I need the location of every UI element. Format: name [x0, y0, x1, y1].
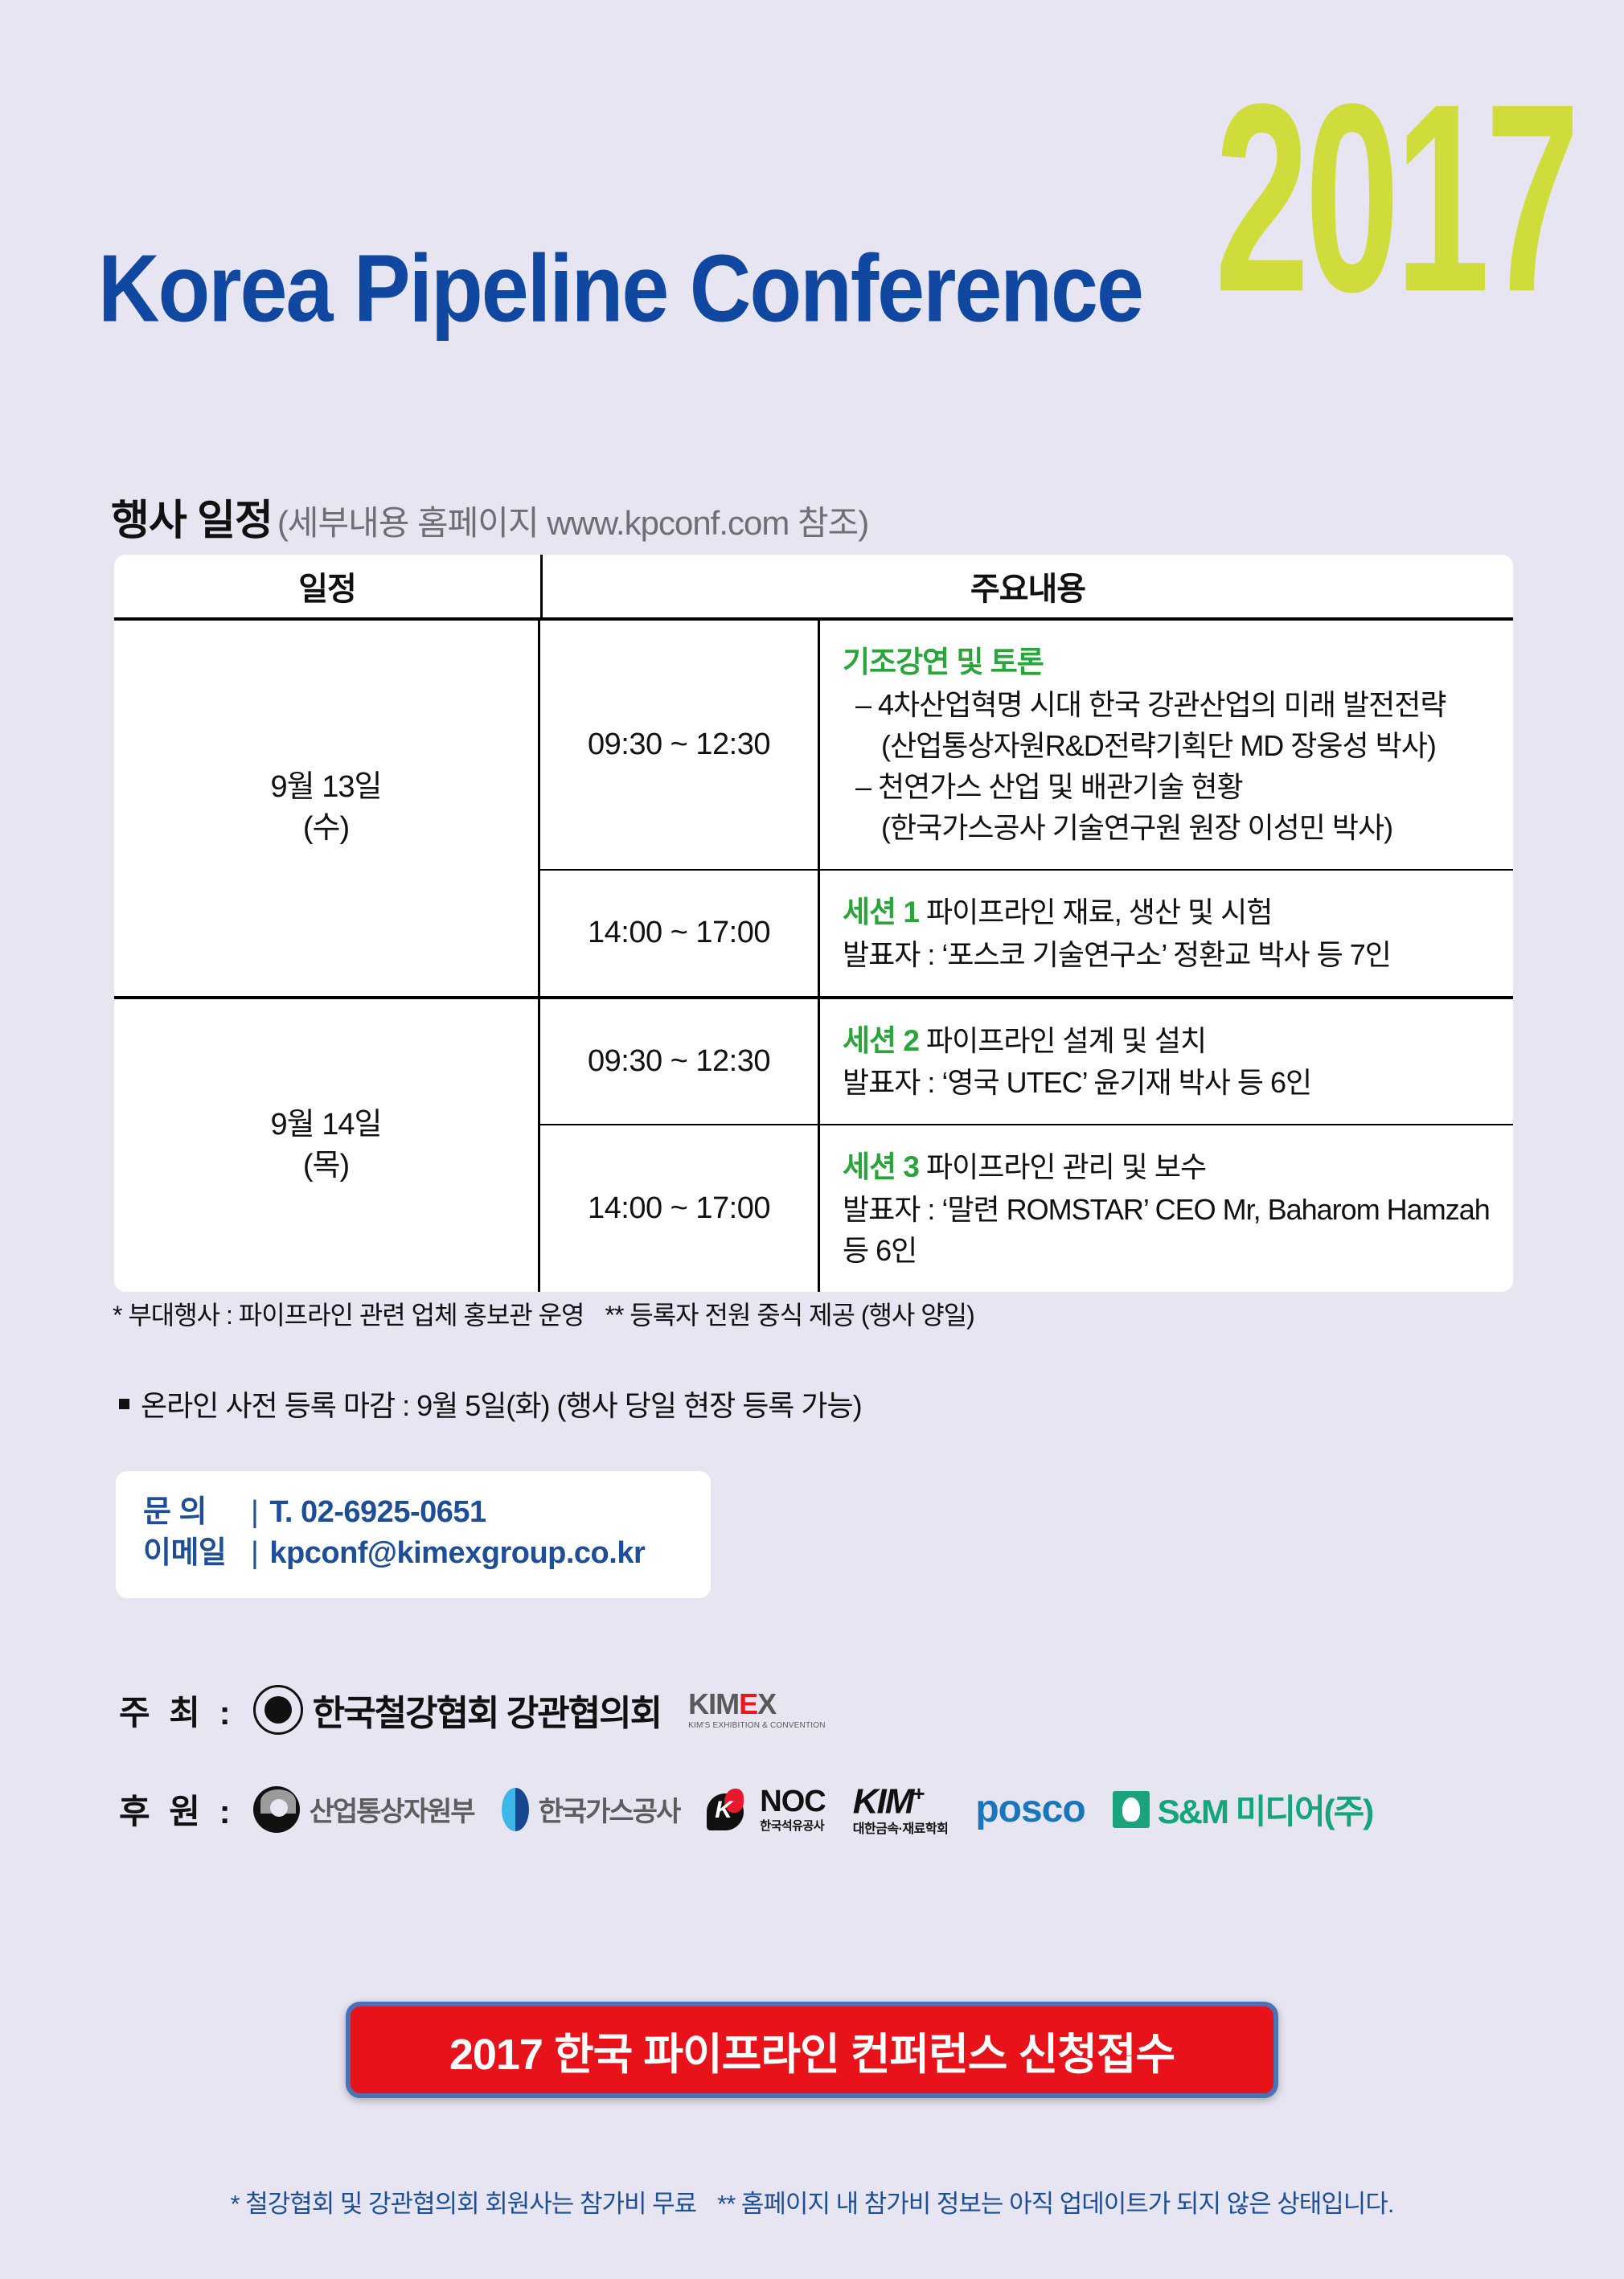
- slot-title: 세션 3: [843, 1150, 919, 1183]
- sm-media-label: S&M 미디어(주): [1158, 1785, 1373, 1834]
- slot-line: 발표자 : ‘말련 ROMSTAR’ CEO Mr, Baharom Hamza…: [843, 1189, 1497, 1271]
- contact-phone-value[interactable]: T. 02-6925-0651: [269, 1495, 486, 1529]
- contact-separator: |: [251, 1495, 258, 1529]
- slot-line: – 4차산업혁명 시대 한국 강관산업의 미래 발전전략: [843, 684, 1497, 725]
- kim-plus: +: [912, 1781, 923, 1806]
- slot-line: – 천연가스 산업 및 배관기술 현황: [843, 766, 1497, 807]
- slot-time: 14:00 ~ 17:00: [540, 1125, 820, 1292]
- knoc-label: NOC: [760, 1786, 825, 1817]
- day-date-cell: 9월 14일 (목): [114, 999, 540, 1292]
- support-label: 후 원 :: [119, 1785, 236, 1834]
- slot-heading-line: 세션 2 파이프라인 설계 및 설치: [843, 1020, 1497, 1063]
- logo-motie: 산업통상자원부: [253, 1786, 474, 1833]
- slot-content: 세션 3 파이프라인 관리 및 보수 발표자 : ‘말련 ROMSTAR’ CE…: [820, 1125, 1513, 1292]
- slot-heading-line: 세션 1 파이프라인 재료, 생산 및 시험: [843, 892, 1497, 934]
- slot-line: 발표자 : ‘영국 UTEC’ 윤기재 박사 등 6인: [843, 1062, 1497, 1103]
- table-header-row: 일정 주요내용: [114, 555, 1513, 621]
- slot-content: 세션 1 파이프라인 재료, 생산 및 시험 발표자 : ‘포스코 기술연구소’…: [820, 871, 1513, 996]
- contact-box: 문 의|T. 02-6925-0651 이메일|kpconf@kimexgrou…: [116, 1471, 711, 1598]
- schedule-heading: 행사 일정(세부내용 홈페이지 www.kpconf.com 참조): [111, 486, 868, 547]
- kimex-e: E: [739, 1687, 757, 1720]
- slot-time: 09:30 ~ 12:30: [540, 999, 820, 1125]
- sm-media-icon: [1113, 1791, 1150, 1828]
- schedule-table: 일정 주요내용 9월 13일 (수) 09:30 ~ 12:30 기조강연 및 …: [114, 555, 1513, 1292]
- kosa-label: 한국철강협회 강관협의회: [313, 1684, 662, 1736]
- slot-subtitle: 파이프라인 관리 및 보수: [926, 1150, 1206, 1183]
- contact-email-value[interactable]: kpconf@kimexgroup.co.kr: [269, 1536, 645, 1570]
- day-date-cell: 9월 13일 (수): [114, 621, 540, 996]
- slot-title: 기조강연 및 토론: [843, 641, 1497, 684]
- slot-line: (산업통상자원R&D전략기획단 MD 장웅성 박사): [843, 725, 1497, 766]
- day-slots: 09:30 ~ 12:30 세션 2 파이프라인 설계 및 설치 발표자 : ‘…: [540, 999, 1513, 1292]
- logo-kogas: 한국가스공사: [502, 1788, 680, 1831]
- day-weekday: (수): [271, 808, 382, 849]
- kim-label: KIM: [853, 1782, 913, 1822]
- kogas-mark-icon: [502, 1788, 529, 1831]
- page-title: Korea Pipeline Conference: [98, 241, 1142, 337]
- knoc-flame-icon: K: [707, 1789, 755, 1830]
- host-row: 주 최 : 한국철강협회 강관협의회 KIMEX KIM'S EXHIBITIO…: [119, 1684, 853, 1736]
- schedule-heading-sub: (세부내용 홈페이지 www.kpconf.com 참조): [277, 504, 868, 542]
- table-row: 9월 13일 (수) 09:30 ~ 12:30 기조강연 및 토론 – 4차산…: [114, 621, 1513, 996]
- contact-email-label: 이메일: [143, 1533, 240, 1574]
- slot-title: 세션 1: [843, 896, 919, 928]
- knoc-sublabel: 한국석유공사: [760, 1820, 825, 1832]
- schedule-slot: 09:30 ~ 12:30 기조강연 및 토론 – 4차산업혁명 시대 한국 강…: [540, 621, 1513, 869]
- table-body: 9월 13일 (수) 09:30 ~ 12:30 기조강연 및 토론 – 4차산…: [114, 621, 1513, 1292]
- motie-taegeuk-icon: [253, 1786, 300, 1833]
- kimex-logo-icon: KIMEX KIM'S EXHIBITION & CONVENTION: [688, 1690, 826, 1730]
- host-label: 주 최 :: [119, 1686, 236, 1735]
- logo-knoc: K NOC 한국석유공사: [707, 1786, 825, 1832]
- note-side-event: * 부대행사 : 파이프라인 관련 업체 홍보관 운영: [113, 1301, 584, 1330]
- day-date: 9월 13일: [271, 767, 382, 808]
- schedule-slot: 09:30 ~ 12:30 세션 2 파이프라인 설계 및 설치 발표자 : ‘…: [540, 999, 1513, 1125]
- day-slots: 09:30 ~ 12:30 기조강연 및 토론 – 4차산업혁명 시대 한국 강…: [540, 621, 1513, 996]
- footer-notes: * 철강협회 및 강관협의회 회원사는 참가비 무료** 홈페이지 내 참가비 …: [0, 2183, 1624, 2220]
- slot-heading-line: 세션 3 파이프라인 관리 및 보수: [843, 1146, 1497, 1189]
- schedule-heading-main: 행사 일정: [111, 498, 273, 544]
- contact-phone-label: 문 의: [143, 1492, 240, 1533]
- slot-time: 14:00 ~ 17:00: [540, 871, 820, 996]
- kim-logo-icon: KIM+ 대한금속·재료학회: [853, 1783, 949, 1836]
- kimex-x: X: [757, 1687, 776, 1720]
- support-row: 후 원 : 산업통상자원부 한국가스공사 K NOC 한국석유공사 KIM+ 대…: [119, 1783, 1400, 1836]
- kogas-label: 한국가스공사: [539, 1789, 680, 1829]
- posco-logo-icon: posco: [975, 1787, 1085, 1831]
- footer-note-update: ** 홈페이지 내 참가비 정보는 아직 업데이트가 되지 않은 상태입니다.: [717, 2190, 1393, 2218]
- slot-content: 기조강연 및 토론 – 4차산업혁명 시대 한국 강관산업의 미래 발전전략 (…: [820, 621, 1513, 869]
- motie-label: 산업통상자원부: [310, 1789, 474, 1829]
- registration-deadline: 온라인 사전 등록 마감 : 9월 5일(화) (행사 당일 현장 등록 가능): [119, 1383, 862, 1424]
- slot-subtitle: 파이프라인 재료, 생산 및 시험: [926, 896, 1272, 928]
- logo-posco: posco: [975, 1787, 1085, 1831]
- day-weekday: (목): [271, 1146, 382, 1187]
- kimex-kim: KIM: [688, 1687, 739, 1720]
- slot-line: 발표자 : ‘포스코 기술연구소’ 정환교 박사 등 7인: [843, 934, 1497, 975]
- table-row: 9월 14일 (목) 09:30 ~ 12:30 세션 2 파이프라인 설계 및…: [114, 996, 1513, 1292]
- slot-subtitle: 파이프라인 설계 및 설치: [926, 1024, 1206, 1057]
- logo-sm-media: S&M 미디어(주): [1113, 1785, 1373, 1834]
- contact-email-row: 이메일|kpconf@kimexgroup.co.kr: [143, 1533, 683, 1574]
- slot-time: 09:30 ~ 12:30: [540, 621, 820, 869]
- column-header-content: 주요내용: [543, 555, 1513, 617]
- note-lunch: ** 등록자 전원 중식 제공 (행사 양일): [605, 1301, 974, 1330]
- logo-kosa: 한국철강협회 강관협의회: [253, 1684, 662, 1736]
- side-event-notes: * 부대행사 : 파이프라인 관련 업체 홍보관 운영** 등록자 전원 중식 …: [113, 1295, 974, 1332]
- register-button[interactable]: 2017 한국 파이프라인 컨퍼런스 신청접수: [346, 2002, 1278, 2098]
- logo-kim: KIM+ 대한금속·재료학회: [853, 1783, 949, 1836]
- registration-deadline-text: 온라인 사전 등록 마감 : 9월 5일(화) (행사 당일 현장 등록 가능): [141, 1389, 862, 1422]
- slot-line: (한국가스공사 기술연구원 원장 이성민 박사): [843, 807, 1497, 848]
- bullet-square-icon: [119, 1399, 129, 1409]
- footer-note-free: * 철강협회 및 강관협의회 회원사는 참가비 무료: [231, 2190, 697, 2218]
- kosa-seal-icon: [253, 1685, 303, 1735]
- schedule-slot: 14:00 ~ 17:00 세션 3 파이프라인 관리 및 보수 발표자 : ‘…: [540, 1124, 1513, 1292]
- contact-phone-row: 문 의|T. 02-6925-0651: [143, 1492, 683, 1533]
- hero-year: 2017: [1215, 64, 1576, 333]
- kim-sublabel: 대한금속·재료학회: [853, 1823, 949, 1836]
- logo-kimex: KIMEX KIM'S EXHIBITION & CONVENTION: [688, 1690, 826, 1730]
- slot-title: 세션 2: [843, 1024, 919, 1057]
- day-date: 9월 14일: [271, 1105, 382, 1146]
- hero-banner: 2017 Korea Pipeline Conference: [0, 0, 1624, 426]
- slot-content: 세션 2 파이프라인 설계 및 설치 발표자 : ‘영국 UTEC’ 윤기재 박…: [820, 999, 1513, 1125]
- kimex-tagline: KIM'S EXHIBITION & CONVENTION: [688, 1722, 826, 1730]
- contact-separator: |: [251, 1536, 258, 1570]
- column-header-date: 일정: [114, 555, 540, 617]
- schedule-slot: 14:00 ~ 17:00 세션 1 파이프라인 재료, 생산 및 시험 발표자…: [540, 869, 1513, 996]
